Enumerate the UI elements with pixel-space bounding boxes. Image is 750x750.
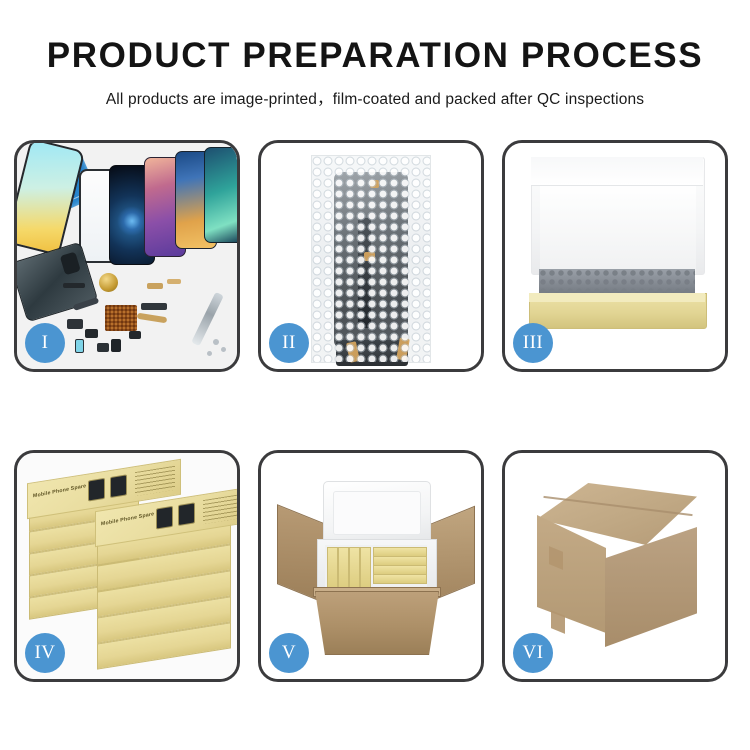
box-label-specs-text (135, 466, 175, 496)
box-label-phone-image (88, 478, 105, 502)
carton-right-face (605, 527, 697, 647)
step-panel-5: V (258, 450, 484, 682)
box-label-specs-text (203, 494, 237, 524)
phone-screen-teal-icon (204, 147, 237, 243)
box-label-phone-image (178, 502, 195, 526)
component-chip-icon (75, 339, 84, 353)
step-panel-1: I (14, 140, 240, 372)
screwdriver-icon (191, 292, 224, 346)
inner-box-item (360, 547, 371, 589)
process-steps-grid: I II (14, 140, 736, 682)
screw-icon (207, 351, 212, 356)
component-chip-icon (167, 279, 181, 284)
foam-lid (323, 481, 431, 545)
speaker-part-icon (99, 273, 118, 292)
component-chip-icon (85, 329, 98, 338)
step-badge-2: II (269, 323, 309, 363)
step-panel-4: Mobile Phone Spare Parts Mobile Phone Sp… (14, 450, 240, 682)
screw-icon (221, 347, 226, 352)
inner-box-item (349, 547, 360, 589)
product-preparation-infographic: PRODUCT PREPARATION PROCESS All products… (0, 0, 750, 750)
step-badge-5: V (269, 633, 309, 673)
step-panel-6: VI (502, 450, 728, 682)
carton-body (315, 591, 439, 655)
component-chip-icon (63, 283, 85, 288)
component-chip-icon (97, 343, 109, 352)
inner-box-item (373, 574, 427, 584)
bubble-texture (312, 156, 430, 362)
inner-box-item (327, 547, 338, 589)
box-lid-flap (531, 157, 703, 186)
component-chip-icon (67, 319, 83, 329)
flex-cable-icon (137, 313, 168, 324)
component-chip-icon (129, 331, 141, 339)
component-chip-icon (147, 283, 163, 289)
page-subtitle: All products are image-printed，film-coat… (0, 87, 750, 109)
bubble-wrap-bag-icon (311, 155, 431, 363)
screw-icon (213, 339, 219, 345)
step-badge-3: III (513, 323, 553, 363)
step-badge-6: VI (513, 633, 553, 673)
box-tray-edge (529, 293, 705, 302)
copper-grid-part-icon (105, 305, 137, 331)
component-chip-icon (141, 303, 167, 310)
box-label-phone-image (156, 506, 173, 530)
step-badge-4: IV (25, 633, 65, 673)
page-title: PRODUCT PREPARATION PROCESS (0, 38, 750, 75)
header: PRODUCT PREPARATION PROCESS All products… (0, 0, 750, 109)
box-label-phone-image (110, 474, 127, 498)
inner-box-item (338, 547, 349, 589)
step-panel-3: III (502, 140, 728, 372)
step-badge-1: I (25, 323, 65, 363)
step-panel-2: II (258, 140, 484, 372)
component-chip-icon (111, 339, 121, 352)
